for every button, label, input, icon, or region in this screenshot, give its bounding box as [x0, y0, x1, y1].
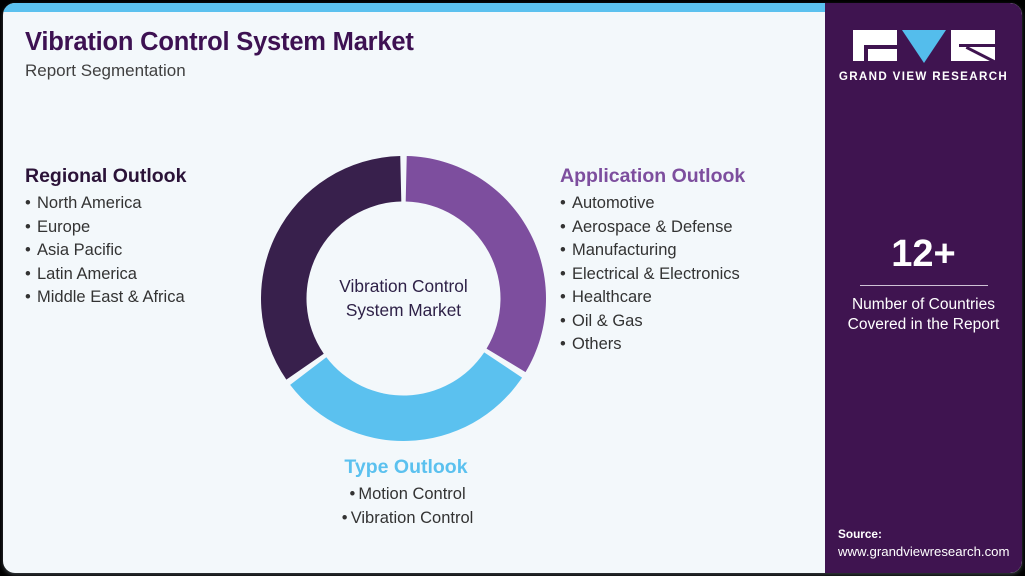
- list-item: Motion Control: [321, 483, 491, 507]
- list-item: Electrical & Electronics: [560, 263, 745, 287]
- list-item: North America: [25, 192, 186, 216]
- list-item: Vibration Control: [321, 507, 491, 531]
- type-outlook-list: Motion Control Vibration Control: [321, 483, 491, 530]
- application-outlook-title: Application Outlook: [560, 165, 745, 188]
- logo-marks: [825, 30, 1022, 63]
- donut-segment-regional: [261, 156, 401, 380]
- brand-logo: GRAND VIEW RESEARCH: [825, 30, 1022, 83]
- regional-outlook-title: Regional Outlook: [25, 165, 186, 188]
- side-panel: GRAND VIEW RESEARCH 12+ Number of Countr…: [825, 3, 1022, 573]
- stat-value: 12+: [825, 235, 1022, 273]
- application-outlook-section: Application Outlook Automotive Aerospace…: [560, 165, 745, 357]
- donut-chart-svg: [261, 156, 546, 441]
- stat-divider: [860, 285, 988, 286]
- list-item: Latin America: [25, 263, 186, 287]
- source-block: Source: www.grandviewresearch.com: [838, 527, 1022, 559]
- list-item: Middle East & Africa: [25, 286, 186, 310]
- countries-stat-block: 12+ Number of Countries Covered in the R…: [825, 235, 1022, 336]
- list-item: Aerospace & Defense: [560, 216, 745, 240]
- page-subtitle: Report Segmentation: [25, 61, 186, 81]
- stat-label: Number of Countries Covered in the Repor…: [825, 295, 1022, 336]
- donut-chart: Vibration Control System Market: [261, 156, 546, 441]
- infographic-canvas: Vibration Control System Market Report S…: [0, 0, 1025, 576]
- source-url[interactable]: www.grandviewresearch.com: [838, 544, 1022, 559]
- regional-outlook-list: North America Europe Asia Pacific Latin …: [25, 192, 186, 310]
- source-heading: Source:: [838, 527, 1022, 541]
- list-item: Oil & Gas: [560, 310, 745, 334]
- regional-outlook-section: Regional Outlook North America Europe As…: [25, 165, 186, 310]
- top-accent-strip: [3, 3, 833, 12]
- donut-segments: [261, 156, 546, 441]
- donut-segment-type: [290, 352, 522, 441]
- list-item: Automotive: [560, 192, 745, 216]
- list-item: Healthcare: [560, 286, 745, 310]
- stat-label-line-1: Number of Countries: [825, 295, 1022, 315]
- logo-v-triangle-icon: [902, 30, 946, 63]
- page-title: Vibration Control System Market: [25, 28, 414, 57]
- brand-logo-text: GRAND VIEW RESEARCH: [825, 70, 1022, 83]
- stat-label-line-2: Covered in the Report: [825, 315, 1022, 335]
- list-item: Others: [560, 333, 745, 357]
- list-item: Europe: [25, 216, 186, 240]
- application-outlook-list: Automotive Aerospace & Defense Manufactu…: [560, 192, 745, 357]
- logo-g-icon: [853, 30, 897, 61]
- list-item: Asia Pacific: [25, 239, 186, 263]
- list-item: Manufacturing: [560, 239, 745, 263]
- type-outlook-section: Type Outlook Motion Control Vibration Co…: [321, 456, 491, 530]
- logo-r-icon: [951, 30, 995, 61]
- type-outlook-title: Type Outlook: [321, 456, 491, 479]
- donut-segment-application: [406, 156, 546, 372]
- report-card: Vibration Control System Market Report S…: [3, 3, 1022, 573]
